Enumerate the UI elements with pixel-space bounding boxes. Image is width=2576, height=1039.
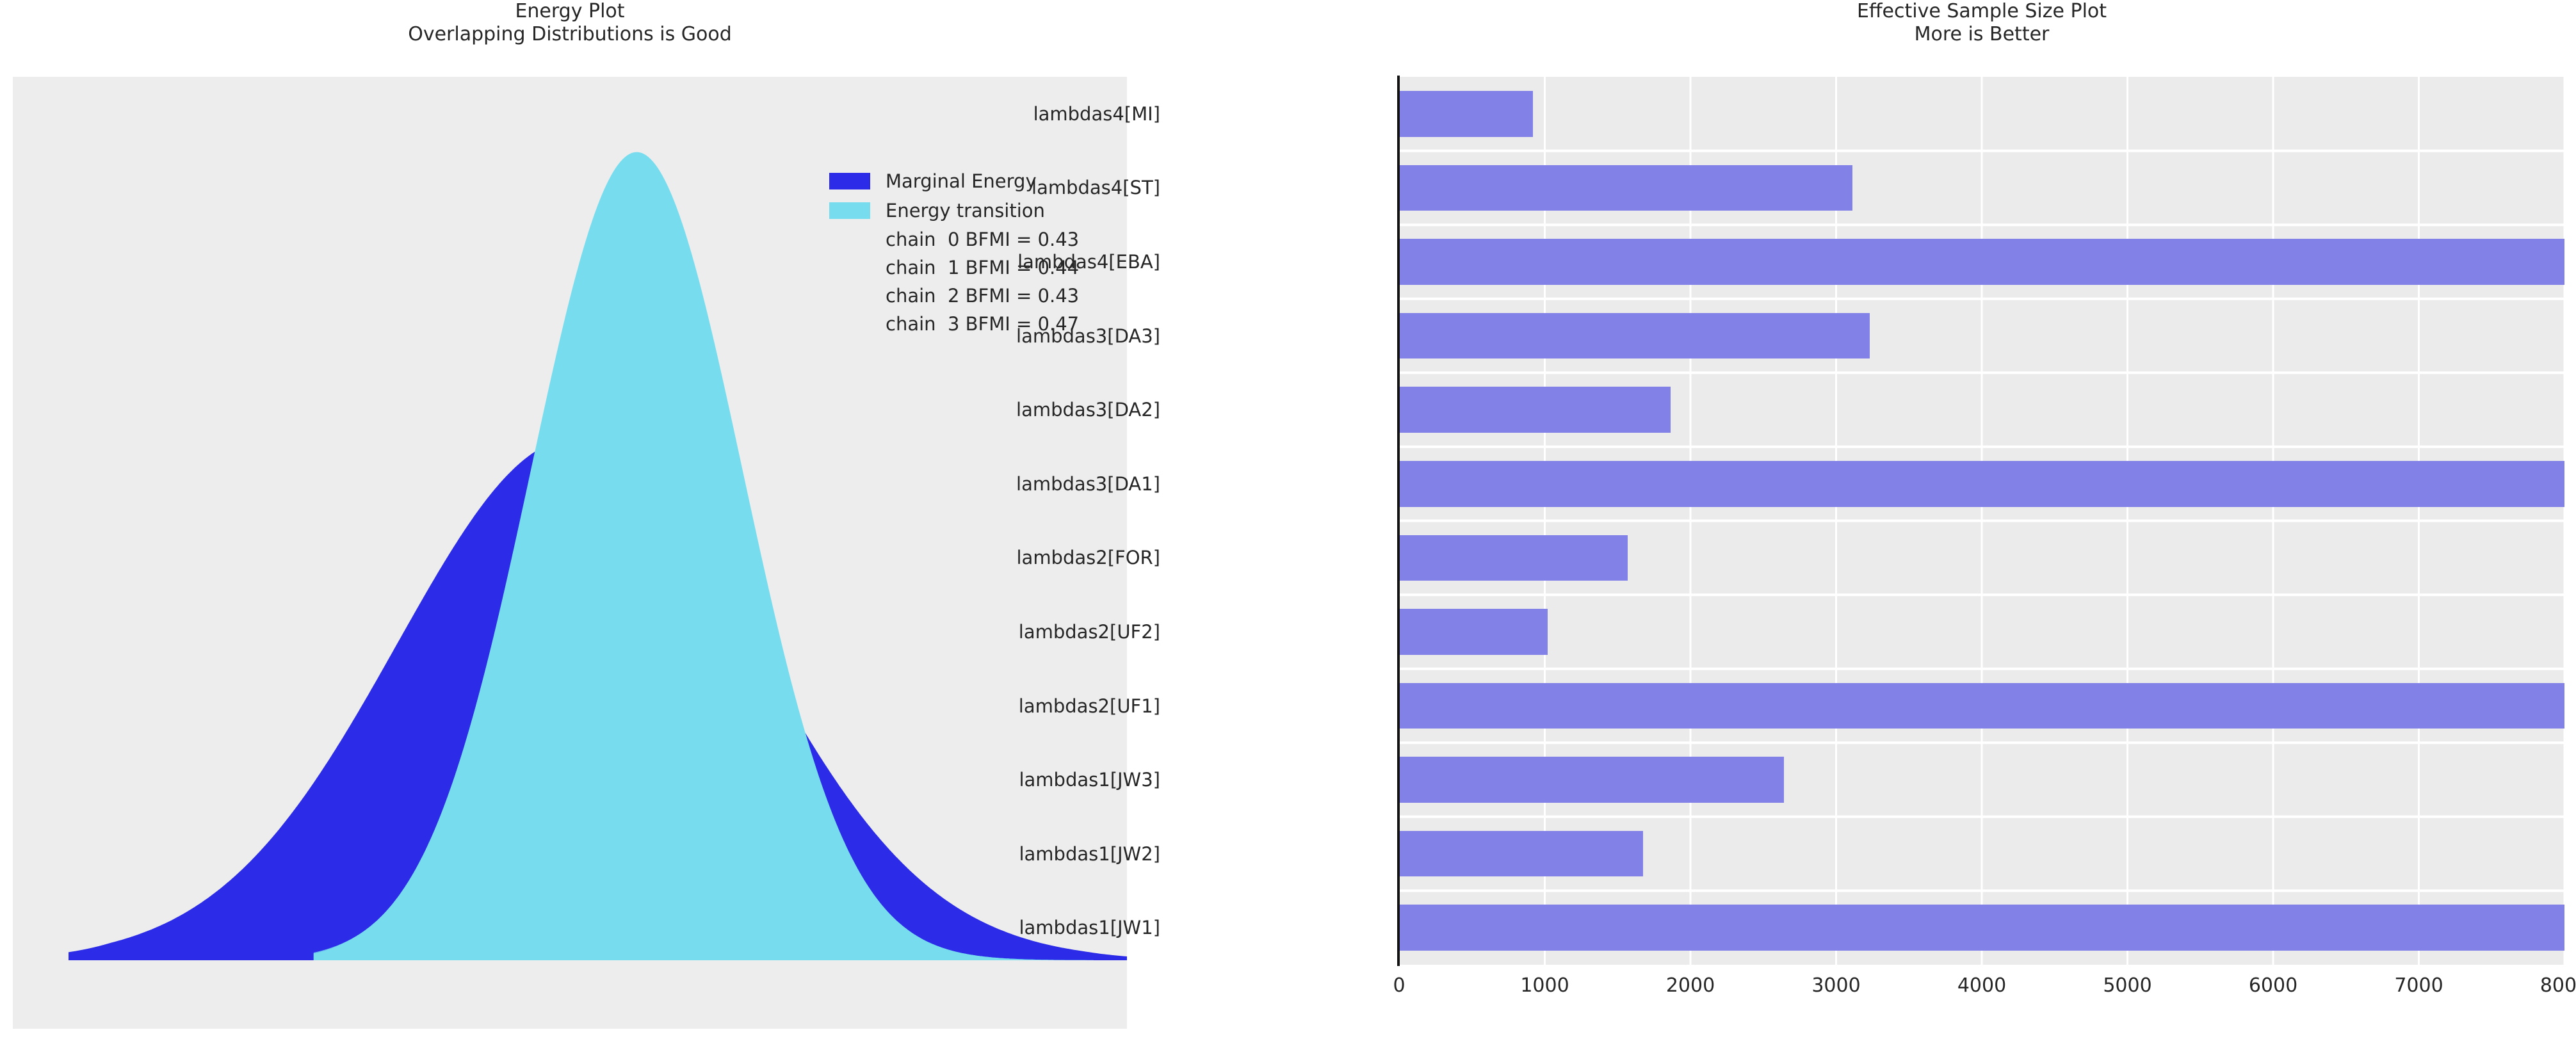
ess-y-tick-label: lambdas4[MI] <box>1033 103 1177 125</box>
ess-plot-panel <box>1399 77 2564 965</box>
ess-y-tick-label: lambdas4[EBA] <box>1017 251 1177 273</box>
legend-item-energy-transition: Energy transition <box>829 196 1127 225</box>
ess-y-tick-label: lambdas3[DA1] <box>1016 473 1177 495</box>
ess-x-tick-label: 6000 <box>2249 974 2297 997</box>
ess-x-tick-label: 5000 <box>2103 974 2151 997</box>
ess-bar <box>1399 461 2564 507</box>
ess-bar-group <box>1399 77 2564 965</box>
energy-plot-title: Energy Plot Overlapping Distributions is… <box>13 0 1127 46</box>
legend-label-bfmi-chain-0: chain 0 BFMI = 0.43 <box>886 230 1079 249</box>
ess-x-tick-label: 0 <box>1393 974 1405 997</box>
ess-x-tick-label: 2000 <box>1666 974 1715 997</box>
legend-label-bfmi-chain-2: chain 2 BFMI = 0.43 <box>886 287 1079 305</box>
ess-bar <box>1399 757 1784 803</box>
ess-x-tick-label: 4000 <box>1957 974 2006 997</box>
legend-label-marginal-energy: Marginal Energy <box>886 172 1037 191</box>
ess-bar <box>1399 165 1852 211</box>
ess-bar <box>1399 91 1533 137</box>
ess-y-tick-label: lambdas4[ST] <box>1032 177 1177 198</box>
ess-x-tick-label: 7000 <box>2394 974 2443 997</box>
ess-bar <box>1399 239 2564 285</box>
ess-y-tick-label: lambdas1[JW1] <box>1019 917 1177 938</box>
ess-bar <box>1399 683 2564 729</box>
ess-bar <box>1399 609 1548 655</box>
ess-bar <box>1399 831 1643 877</box>
ess-bar <box>1399 535 1628 581</box>
ess-y-tick-label: lambdas2[UF1] <box>1019 695 1177 717</box>
legend-swatch-marginal-energy <box>829 173 870 189</box>
ess-bar <box>1399 313 1870 359</box>
legend-label-energy-transition: Energy transition <box>886 202 1045 220</box>
ess-x-tick-label: 8000 <box>2540 974 2576 997</box>
ess-y-tick-label: lambdas1[JW3] <box>1019 769 1177 791</box>
ess-y-tick-label: lambdas3[DA2] <box>1016 399 1177 421</box>
ess-y-tick-label: lambdas2[FOR] <box>1016 547 1177 568</box>
legend-item-bfmi-chain-0: chain 0 BFMI = 0.43 <box>829 225 1127 254</box>
ess-x-tick-label: 3000 <box>1811 974 1860 997</box>
ess-y-tick-label: lambdas3[DA3] <box>1016 325 1177 347</box>
ess-y-axis-line <box>1397 76 1400 966</box>
ess-bar <box>1399 905 2564 951</box>
ess-y-tick-label: lambdas2[UF2] <box>1019 621 1177 643</box>
energy-plot-panel: Marginal Energy Energy transition chain … <box>13 77 1127 1029</box>
ess-x-tick-label: 1000 <box>1520 974 1569 997</box>
legend-item-bfmi-chain-2: chain 2 BFMI = 0.43 <box>829 282 1127 310</box>
legend-swatch-energy-transition <box>829 202 870 219</box>
figure-canvas: Energy Plot Overlapping Distributions is… <box>0 0 2576 1039</box>
ess-bar <box>1399 387 1671 433</box>
ess-plot-title: Effective Sample Size Plot More is Bette… <box>1399 0 2564 46</box>
ess-y-tick-label: lambdas1[JW2] <box>1019 843 1177 865</box>
